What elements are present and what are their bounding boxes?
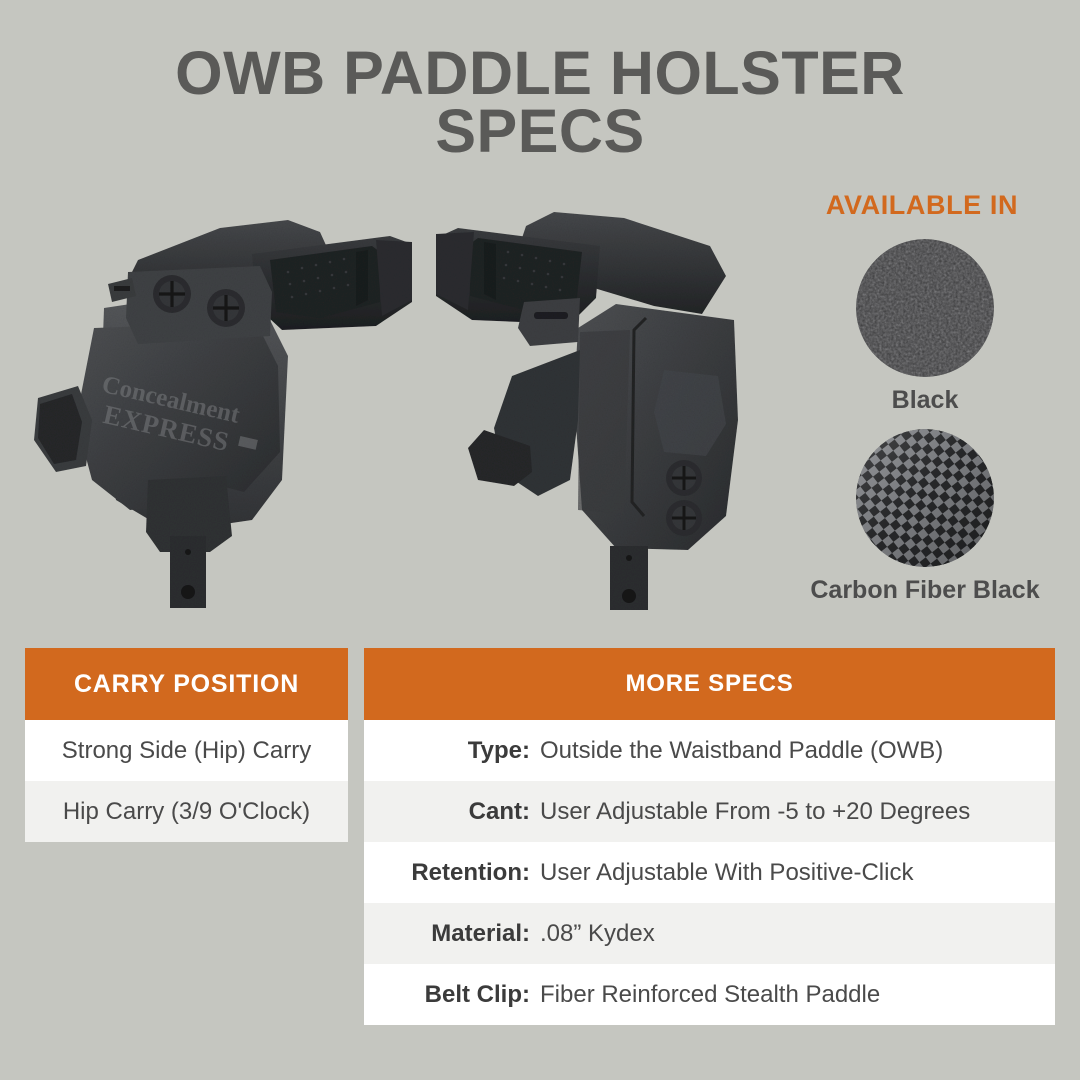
spec-label-retention: Retention: <box>364 859 540 887</box>
more-specs-header: MORE SPECS <box>364 648 1055 720</box>
retention-screw <box>207 289 245 327</box>
retention-screw <box>666 500 702 536</box>
color-swatch-black[interactable]: Black <box>780 239 1070 415</box>
table-row: Retention: User Adjustable With Positive… <box>364 842 1055 903</box>
carry-position-table: CARRY POSITION Strong Side (Hip) Carry H… <box>25 648 348 842</box>
table-row: Type: Outside the Waistband Paddle (OWB) <box>364 720 1055 781</box>
swatch-black-label: Black <box>780 386 1070 415</box>
swatch-carbon-fiber-label: Carbon Fiber Black <box>780 576 1070 605</box>
product-image-stage: Concealment EXPRESS <box>0 180 830 630</box>
product-image-holster-shell-side <box>430 180 830 630</box>
retention-screw <box>666 460 702 496</box>
spec-label-material: Material: <box>364 920 540 948</box>
spec-label-type: Type: <box>364 737 540 765</box>
spec-label-cant: Cant: <box>364 798 540 826</box>
carry-position-header: CARRY POSITION <box>25 648 348 720</box>
table-row: Material: .08” Kydex <box>364 903 1055 964</box>
retention-screw <box>153 275 191 313</box>
spec-value-belt-clip: Fiber Reinforced Stealth Paddle <box>540 981 880 1009</box>
holster-right-graphic <box>436 212 738 610</box>
table-row: Cant: User Adjustable From -5 to +20 Deg… <box>364 781 1055 842</box>
product-image-holster-paddle-side: Concealment EXPRESS <box>20 180 420 630</box>
spec-value-material: .08” Kydex <box>540 920 655 948</box>
carry-position-value: Hip Carry (3/9 O'Clock) <box>63 798 310 826</box>
page-title: OWB PADDLE HOLSTER SPECS <box>0 44 1080 160</box>
available-in-panel: AVAILABLE IN <box>780 190 1070 605</box>
table-row: Belt Clip: Fiber Reinforced Stealth Padd… <box>364 964 1055 1025</box>
table-row: Strong Side (Hip) Carry <box>25 720 348 781</box>
swatch-black-circle <box>856 239 994 377</box>
carry-position-value: Strong Side (Hip) Carry <box>62 737 311 765</box>
swatch-carbon-fiber-circle <box>856 429 994 567</box>
more-specs-table: MORE SPECS Type: Outside the Waistband P… <box>364 648 1055 1025</box>
spec-value-retention: User Adjustable With Positive-Click <box>540 859 913 887</box>
color-swatch-carbon-fiber-black[interactable]: Carbon Fiber Black <box>780 429 1070 605</box>
available-in-heading: AVAILABLE IN <box>780 190 1070 221</box>
page-title-line-2: SPECS <box>0 102 1080 160</box>
table-row: Hip Carry (3/9 O'Clock) <box>25 781 348 842</box>
spec-value-type: Outside the Waistband Paddle (OWB) <box>540 737 943 765</box>
spec-label-belt-clip: Belt Clip: <box>364 981 540 1009</box>
spec-value-cant: User Adjustable From -5 to +20 Degrees <box>540 798 970 826</box>
page-title-line-1: OWB PADDLE HOLSTER <box>0 44 1080 102</box>
